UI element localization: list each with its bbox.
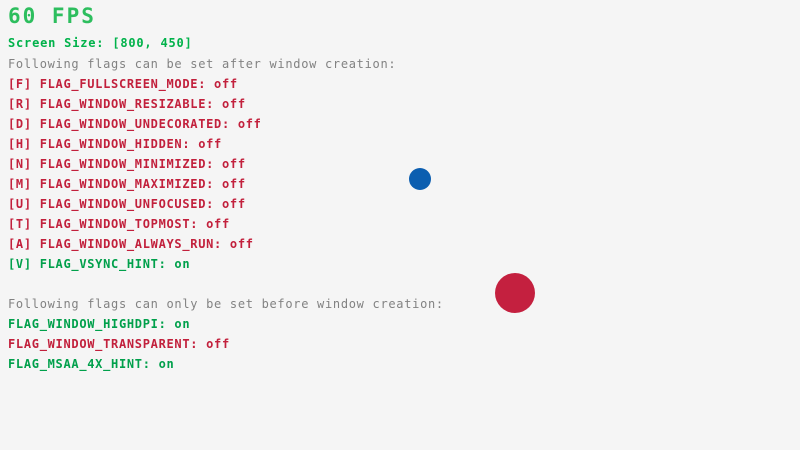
flag-row-window-topmost[interactable]: [T] FLAG_WINDOW_TOPMOST: off xyxy=(8,218,230,230)
flag-row-fullscreen-mode[interactable]: [F] FLAG_FULLSCREEN_MODE: off xyxy=(8,78,238,90)
flag-row-window-minimized[interactable]: [N] FLAG_WINDOW_MINIMIZED: off xyxy=(8,158,246,170)
flag-row-window-undecorated[interactable]: [D] FLAG_WINDOW_UNDECORATED: off xyxy=(8,118,262,130)
screen-size-label: Screen Size: [800, 450] xyxy=(8,37,193,49)
flag-row-window-resizable[interactable]: [R] FLAG_WINDOW_RESIZABLE: off xyxy=(8,98,246,110)
blue-ball-shape xyxy=(409,168,431,190)
flag-row-window-transparent: FLAG_WINDOW_TRANSPARENT: off xyxy=(8,338,230,350)
flag-row-window-always-run[interactable]: [A] FLAG_WINDOW_ALWAYS_RUN: off xyxy=(8,238,254,250)
flag-row-window-highdpi: FLAG_WINDOW_HIGHDPI: on xyxy=(8,318,190,330)
fps-counter: 60 FPS xyxy=(8,6,96,27)
raylib-window-canvas[interactable]: 60 FPS Screen Size: [800, 450] Following… xyxy=(0,0,800,450)
flag-row-window-maximized[interactable]: [M] FLAG_WINDOW_MAXIMIZED: off xyxy=(8,178,246,190)
flag-row-window-hidden[interactable]: [H] FLAG_WINDOW_HIDDEN: off xyxy=(8,138,222,150)
section-header-before-creation: Following flags can only be set before w… xyxy=(8,298,444,310)
flag-row-msaa-4x-hint: FLAG_MSAA_4X_HINT: on xyxy=(8,358,174,370)
red-ball-shape xyxy=(495,273,535,313)
flag-row-window-unfocused[interactable]: [U] FLAG_WINDOW_UNFOCUSED: off xyxy=(8,198,246,210)
section-header-after-creation: Following flags can be set after window … xyxy=(8,58,396,70)
flag-row-vsync-hint[interactable]: [V] FLAG_VSYNC_HINT: on xyxy=(8,258,190,270)
